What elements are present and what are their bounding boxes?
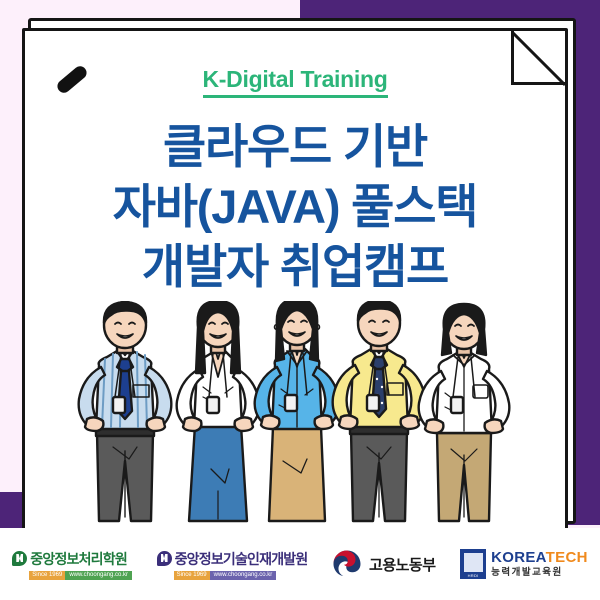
choongang-it-mark-icon — [157, 551, 172, 566]
person-3 — [255, 301, 340, 521]
logo-choongang-it-hrd-label: 중앙정보기술인재개발원 — [175, 549, 308, 569]
choongang-mark-icon — [12, 551, 27, 566]
logo-since-label: Since 1969 — [29, 571, 65, 580]
koreatech-emblem-icon: HRDI — [460, 549, 486, 579]
logo-choongang-academy-url: Since 1969 www.choongang.co.kr — [29, 571, 132, 580]
title-line-3: 개발자 취업캠프 — [25, 237, 565, 297]
logo-koreatech-tech-label: TECH — [546, 549, 588, 566]
logo-ministry-of-employment-and-labor: 고용노동부 — [332, 549, 436, 579]
person-2 — [177, 301, 260, 521]
eyebrow-wrap: K-Digital Training — [25, 67, 565, 98]
koreatech-emblem-label: HRDI — [468, 573, 479, 578]
logo-koreatech-korea-label: KOREA — [491, 549, 546, 566]
person-5 — [419, 304, 510, 521]
title-line-1: 클라우드 기반 — [25, 117, 565, 177]
logo-url-label: www.choongang.co.kr — [65, 571, 132, 580]
taegeuk-icon — [332, 549, 362, 579]
logo-choongang-academy: 중앙정보처리학원 Since 1969 www.choongang.co.kr — [12, 549, 132, 580]
person-1 — [79, 302, 172, 521]
logo-choongang-it-hrd: 중앙정보기술인재개발원 Since 1969 www.choongang.co.… — [157, 549, 308, 580]
logo-koreatech-subtitle: 능력개발교육원 — [491, 568, 588, 578]
logo-url-label: www.choongang.co.kr — [210, 571, 277, 580]
poster-root: K-Digital Training 클라우드 기반 자바(JAVA) 풀스택 … — [0, 0, 600, 600]
title-line-2: 자바(JAVA) 풀스택 — [25, 177, 565, 237]
footer-logos: 중앙정보처리학원 Since 1969 www.choongang.co.kr … — [0, 528, 600, 600]
logo-koreatech: HRDI KOREATECH 능력개발교육원 — [460, 549, 588, 579]
five-office-workers-illustration — [25, 301, 565, 531]
page-title: 클라우드 기반 자바(JAVA) 풀스택 개발자 취업캠프 — [25, 117, 565, 297]
logo-choongang-academy-label: 중앙정보처리학원 — [30, 549, 127, 569]
logo-ministry-label: 고용노동부 — [369, 554, 436, 575]
person-4 — [333, 301, 426, 521]
poster-card: K-Digital Training 클라우드 기반 자바(JAVA) 풀스택 … — [22, 28, 568, 534]
logo-choongang-it-hrd-url: Since 1969 www.choongang.co.kr — [174, 571, 277, 580]
eyebrow-label: K-Digital Training — [203, 67, 388, 98]
logo-since-label: Since 1969 — [174, 571, 210, 580]
